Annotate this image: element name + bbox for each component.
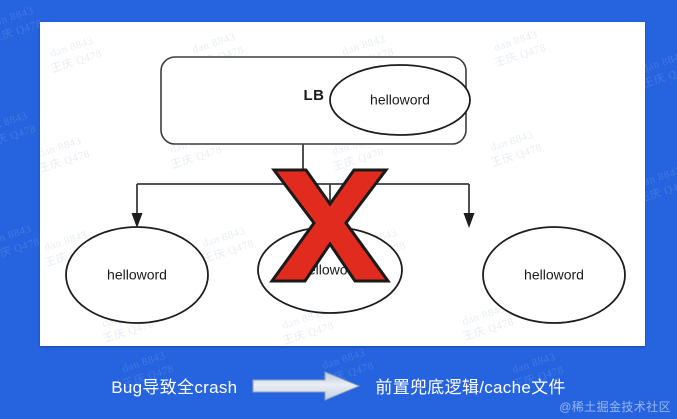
lb-inner-node[interactable]: helloword — [330, 65, 470, 135]
watermark-tile: dan 8843王庆 Q478 — [0, 221, 42, 266]
footer-left-text: Bug导致全crash — [111, 373, 237, 398]
backend-node-3[interactable]: helloword — [483, 227, 625, 323]
lb-box-label: LB — [304, 87, 325, 104]
architecture-diagram: LB helloword helloword helloword hellowo… — [40, 22, 645, 346]
backend-node-1[interactable]: helloword — [66, 227, 208, 323]
watermark-tile: dan 8843王庆 Q478 — [0, 3, 44, 48]
right-arrow-shape — [253, 372, 359, 400]
slide-root: dan 8843王庆 Q478 dan 8843王庆 Q478 dan 8843… — [0, 0, 677, 419]
lb-inner-node-label: helloword — [370, 92, 430, 108]
backend-node-1-label: helloword — [107, 267, 167, 283]
footer-right-text: 前置兜底逻辑/cache文件 — [375, 373, 565, 398]
right-arrow-icon — [251, 371, 361, 401]
backend-node-3-label: helloword — [524, 267, 584, 283]
site-watermark: @稀土掘金技术社区 — [559, 398, 671, 415]
arrowhead-left — [132, 213, 143, 228]
arrowhead-right — [464, 213, 475, 228]
diagram-canvas: dan 8843王庆 Q478 dan 8843王庆 Q478 dan 8843… — [40, 22, 645, 346]
watermark-tile: dan 8843王庆 Q478 — [0, 108, 38, 153]
